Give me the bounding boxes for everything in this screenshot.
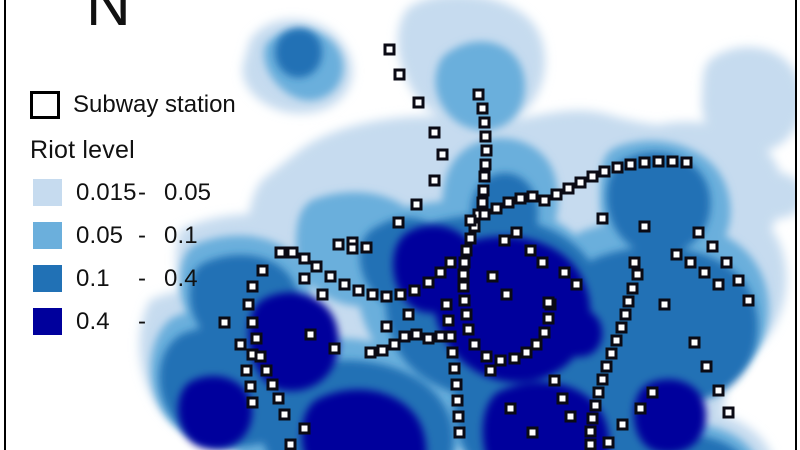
bin-3-low: 0.1 <box>76 265 138 293</box>
north-indicator: N <box>86 0 132 36</box>
figure-right-border <box>795 0 797 450</box>
bin-1-dash: - <box>138 179 164 207</box>
legend-bin-4: 0.4 - <box>30 300 260 343</box>
bin-3-dash: - <box>138 265 164 293</box>
legend-subway-station-label: Subway station <box>73 91 236 119</box>
legend-title: Riot level <box>30 136 260 165</box>
legend-bin-3: 0.1 - 0.4 <box>30 257 260 300</box>
bin-4-color-swatch <box>33 308 62 335</box>
bin-1-label: 0.015 - 0.05 <box>76 179 211 207</box>
legend-bin-1: 0.015 - 0.05 <box>30 171 260 214</box>
bin-4-dash: - <box>138 308 164 336</box>
bin-2-color-swatch <box>33 222 62 249</box>
bin-3-color-swatch <box>33 265 62 292</box>
bin-2-low: 0.05 <box>76 222 138 250</box>
bin-3-label: 0.1 - 0.4 <box>76 265 198 293</box>
map-legend: Subway station Riot level 0.015 - 0.05 0… <box>30 88 260 343</box>
figure-left-border <box>4 0 6 450</box>
bin-3-high: 0.4 <box>164 265 198 293</box>
legend-subway-station: Subway station <box>30 88 260 122</box>
riot-level-ramp: 0.015 - 0.05 0.05 - 0.1 0.1 - 0.4 <box>30 171 260 343</box>
subway-station-swatch-icon <box>30 91 60 119</box>
bin-2-dash: - <box>138 222 164 250</box>
bin-1-high: 0.05 <box>164 179 211 207</box>
bin-1-low: 0.015 <box>76 179 138 207</box>
bin-4-label: 0.4 - <box>76 308 164 336</box>
bin-1-color-swatch <box>33 179 62 206</box>
bin-2-high: 0.1 <box>164 222 198 250</box>
bin-4-low: 0.4 <box>76 308 138 336</box>
bin-2-label: 0.05 - 0.1 <box>76 222 198 250</box>
map-figure: N Subway station Riot level 0.015 - 0.05… <box>0 0 800 450</box>
legend-bin-2: 0.05 - 0.1 <box>30 214 260 257</box>
